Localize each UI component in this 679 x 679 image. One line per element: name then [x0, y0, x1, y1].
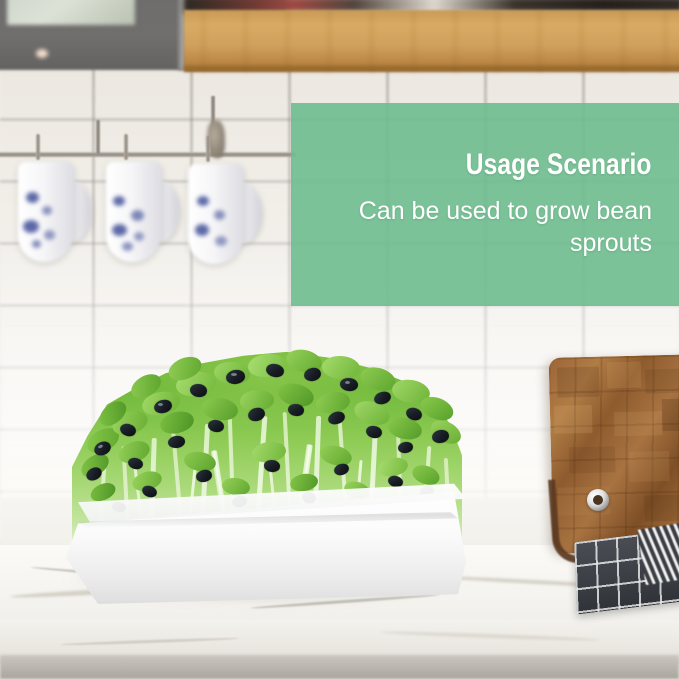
mug-pattern-dot [195, 224, 209, 236]
mug-pattern-dot [113, 196, 125, 206]
shelf-wood-grain [184, 10, 679, 72]
counter-base-shadow [0, 655, 679, 679]
product-photo-stage: Usage Scenario Can be used to grow bean … [0, 0, 679, 679]
board-block [569, 446, 616, 473]
board-block [607, 362, 642, 389]
mug-2 [106, 162, 180, 266]
seed-highlight [158, 403, 163, 406]
mug-pattern-dot [44, 230, 55, 240]
sprouting-tray [66, 482, 466, 604]
usage-scenario-panel: Usage Scenario Can be used to grow bean … [291, 103, 679, 306]
board-block [645, 368, 679, 393]
mug-1 [18, 162, 92, 266]
seed-highlight [231, 373, 237, 376]
board-block [644, 494, 679, 521]
mug-hook-1 [36, 134, 40, 160]
rail-post-left [96, 120, 100, 154]
mug-pattern-dot [23, 220, 39, 233]
mug-3 [188, 164, 262, 268]
mug-pattern-dot [32, 240, 41, 248]
towel-fringe [637, 521, 679, 585]
mug-pattern-dot [215, 236, 227, 246]
board-block [662, 398, 679, 431]
cabinet-handle-highlight [36, 49, 48, 58]
mug-pattern-dot [134, 232, 144, 241]
mug-pattern-dot [122, 242, 133, 251]
mug-pattern-dot [26, 192, 39, 203]
mug-pattern-dot [42, 206, 52, 215]
cabinet-glass-panel [4, 0, 138, 28]
shelf-lower-shadow [184, 66, 679, 73]
panel-title: Usage Scenario [466, 149, 652, 181]
mug-pattern-dot [112, 224, 127, 236]
mug-pattern-dot [214, 210, 225, 220]
mug-hook-2 [124, 134, 128, 160]
board-block [554, 405, 593, 434]
panel-subtitle: Can be used to grow bean sprouts [322, 195, 652, 260]
board-block [629, 451, 670, 482]
board-block [557, 367, 600, 398]
mug-pattern-dot [197, 196, 209, 206]
hanging-rail [0, 152, 296, 157]
mug-pattern-dot [131, 210, 144, 221]
board-block [614, 411, 663, 436]
seed-highlight [345, 381, 350, 384]
board-grommet-hole [593, 495, 603, 505]
mug-hook-3 [206, 136, 210, 162]
